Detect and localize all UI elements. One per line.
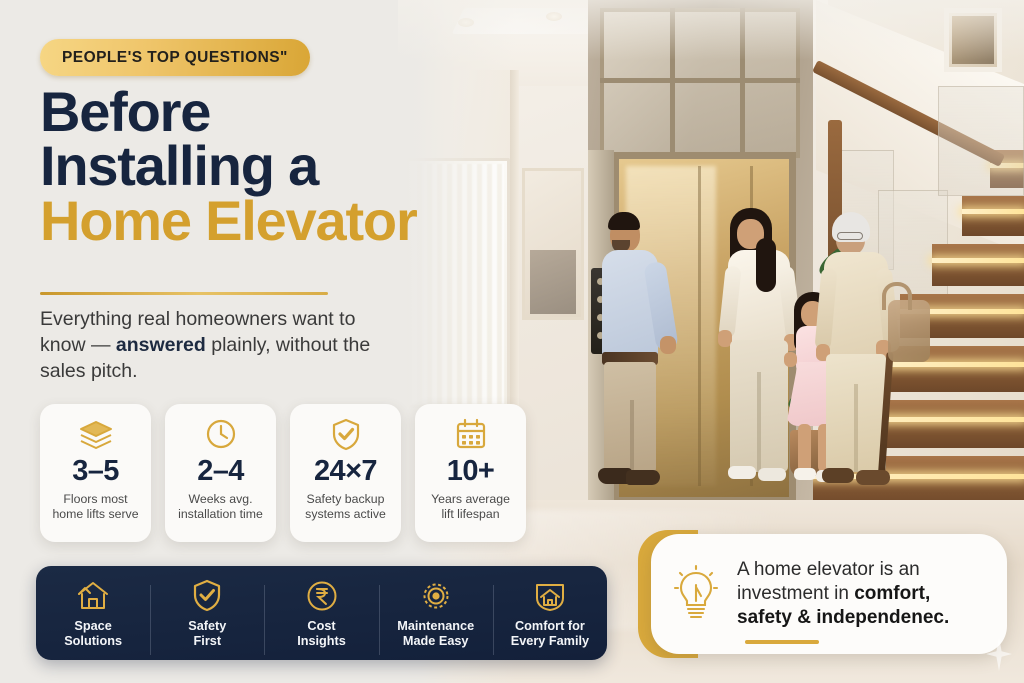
house-shield-icon	[533, 577, 567, 615]
house-icon	[76, 577, 110, 615]
stat-label: Floors most home lifts serve	[52, 492, 138, 523]
eyebrow-badge: PEOPLE'S TOP QUESTIONS"	[40, 39, 310, 76]
subtitle: Everything real homeowners want to know …	[40, 306, 380, 384]
quote-emphasis-1: comfort,	[854, 583, 930, 604]
nav-item-label: Cost Insights	[297, 619, 346, 649]
nav-item-label: Space Solutions	[64, 619, 122, 649]
stat-number: 10+	[447, 455, 494, 488]
stat-label: Safety backup systems active	[305, 492, 386, 523]
nav-item-cost-insights[interactable]: Cost Insights	[264, 577, 378, 649]
shield-check-icon	[192, 577, 222, 615]
lightbulb-icon	[667, 563, 725, 625]
stat-card-weeks: 2–4 Weeks avg. installation time	[165, 404, 276, 542]
nav-item-label: Comfort for Every Family	[511, 619, 589, 649]
stat-number: 2–4	[197, 455, 244, 488]
gold-divider	[40, 292, 328, 295]
nav-item-label: Maintenance Made Easy	[397, 619, 474, 649]
stat-label: Years average lift lifespan	[431, 492, 510, 523]
stat-number: 24×7	[314, 455, 377, 488]
stat-card-lifespan: 10+ Years average lift lifespan	[415, 404, 526, 542]
quote-underline	[745, 640, 819, 644]
stat-card-floors: 3–5 Floors most home lifts serve	[40, 404, 151, 542]
category-nav-bar: Space Solutions Safety First	[36, 566, 607, 660]
clock-icon	[205, 417, 237, 451]
headline-line-1: Before	[40, 85, 510, 139]
photo-top-fade	[398, 0, 1024, 60]
page-title: Before Installing a Home Elevator	[40, 85, 510, 248]
calendar-icon	[455, 417, 487, 451]
headline-line-3: Home Elevator	[40, 194, 510, 248]
stat-label: Weeks avg. installation time	[178, 492, 263, 523]
stat-card-safety: 24×7 Safety backup systems active	[290, 404, 401, 542]
eyebrow-badge-label: PEOPLE'S TOP QUESTIONS"	[62, 49, 288, 67]
nav-item-safety-first[interactable]: Safety First	[150, 577, 264, 649]
quote-text: A home elevator is an investment in comf…	[737, 558, 989, 630]
stat-number: 3–5	[72, 455, 119, 488]
quote-emphasis-2: safety & independenec.	[737, 607, 949, 628]
stat-card-list: 3–5 Floors most home lifts serve 2–4 Wee…	[40, 404, 526, 542]
nav-item-maintenance[interactable]: Maintenance Made Easy	[379, 577, 493, 649]
rupee-circle-icon	[306, 577, 338, 615]
nav-item-comfort[interactable]: Comfort for Every Family	[493, 577, 607, 649]
quote-card: A home elevator is an investment in comf…	[651, 534, 1007, 654]
shield-check-icon	[331, 417, 361, 451]
layers-icon	[78, 417, 114, 451]
subtitle-emphasis: answered	[116, 334, 206, 356]
headline-line-2: Installing a	[40, 139, 510, 193]
nav-item-space-solutions[interactable]: Space Solutions	[36, 577, 150, 649]
nav-item-label: Safety First	[188, 619, 226, 649]
gear-icon	[419, 577, 453, 615]
